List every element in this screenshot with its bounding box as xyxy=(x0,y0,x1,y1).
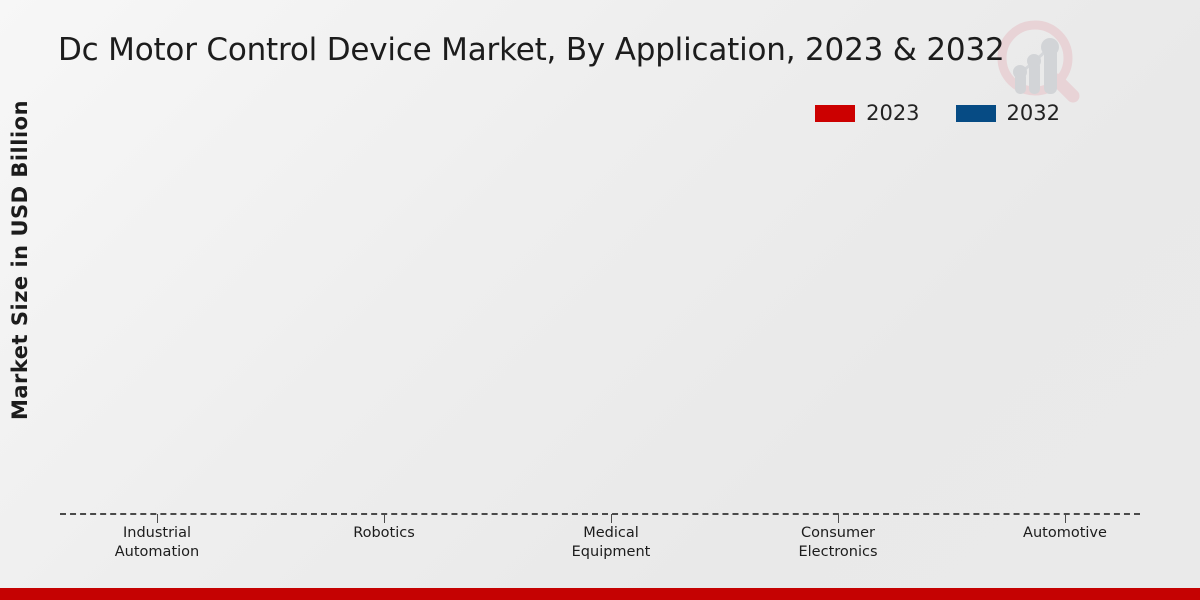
x-label-industrial-automation: Industrial Automation xyxy=(57,524,257,562)
x-label-line1: Robotics xyxy=(284,524,484,543)
chart-canvas: Dc Motor Control Device Market, By Appli… xyxy=(0,0,1200,600)
x-label-line2: Automation xyxy=(57,543,257,562)
x-tick-automotive xyxy=(1065,514,1066,523)
x-label-line1: Medical xyxy=(511,524,711,543)
x-label-line2: Equipment xyxy=(511,543,711,562)
footer-accent-bar xyxy=(0,588,1200,600)
x-tick-medical-equipment xyxy=(611,514,612,523)
x-label-line1: Consumer xyxy=(738,524,938,543)
x-label-consumer-electronics: Consumer Electronics xyxy=(738,524,938,562)
x-label-line2: Electronics xyxy=(738,543,938,562)
x-label-line1: Automotive xyxy=(965,524,1165,543)
x-label-automotive: Automotive xyxy=(965,524,1165,543)
x-tick-robotics xyxy=(384,514,385,523)
plot-area: 2.23 Industrial Automation Robotics xyxy=(0,0,1200,514)
x-label-medical-equipment: Medical Equipment xyxy=(511,524,711,562)
x-label-robotics: Robotics xyxy=(284,524,484,543)
x-axis-baseline xyxy=(60,513,1140,515)
x-tick-industrial-automation xyxy=(157,514,158,523)
x-label-line1: Industrial xyxy=(57,524,257,543)
x-tick-consumer-electronics xyxy=(838,514,839,523)
